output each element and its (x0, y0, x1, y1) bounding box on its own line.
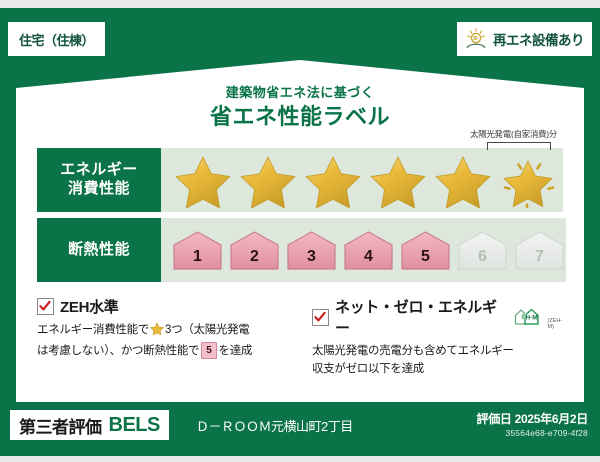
bels-en-label: BELS (109, 414, 160, 437)
rating-row-energy-consumption: エネルギー 消費性能 太陽光発電(自家消費)分 (37, 148, 563, 212)
achievement-zeh-title: ZEH水準 (60, 296, 119, 317)
energy-performance-label-card: 住宅（住棟） 再エネ設備あり 建築物省エネ法に基づく 省エネ性能ラベル (0, 8, 600, 456)
star-filled-4 (366, 152, 430, 208)
rating-body-energy-consumption: 太陽光発電(自家消費)分 (161, 148, 563, 212)
zeh-m-logo: H·M (ZEH-M) (512, 303, 567, 332)
star-filled-3 (301, 152, 365, 208)
achievement-nze-title: ネット・ゼロ・エネルギー (335, 296, 506, 338)
rating-row-insulation: 断熱性能 1 2 3 (37, 218, 563, 282)
insulation-grade-1: 1 (171, 228, 224, 272)
achievement-nze-description: 太陽光発電の売電分も含めてエネルギー 収支がゼロ以下を達成 (312, 343, 567, 379)
inline-grade-badge: 5 (201, 342, 216, 360)
achievement-zeh-description: エネルギー消費性能で3つ（太陽光発電 は考慮しない）、かつ断熱性能で5を達成 (37, 322, 292, 361)
rating-label-energy-consumption: エネルギー 消費性能 (37, 148, 161, 212)
label-footer: 第三者評価 BELS Ｄ－ＲＯＯＭ元横山町2丁目 評価日 2025年6月2日 3… (0, 402, 600, 456)
star-solar-6 (496, 152, 560, 208)
solar-note-label: 太陽光発電(自家消費)分 (470, 128, 557, 140)
star-filled-1 (171, 152, 235, 208)
star-filled-2 (236, 152, 300, 208)
inline-star-icon (150, 326, 164, 338)
zeh-m-caption: (ZEH-M) (547, 318, 567, 332)
bels-jp-label: 第三者評価 (19, 413, 102, 438)
checkbox-net-zero-energy[interactable] (312, 309, 329, 326)
panel-title: 省エネ性能ラベル (16, 99, 584, 131)
star-filled-5 (431, 152, 495, 208)
property-name: Ｄ－ＲＯＯＭ元横山町2丁目 (196, 416, 353, 435)
rating-label-insulation: 断熱性能 (37, 218, 161, 282)
housing-type-label: 住宅（住棟） (19, 30, 94, 49)
insulation-grade-7: 7 (513, 228, 566, 272)
checkbox-zeh-suijun[interactable] (37, 298, 54, 315)
insulation-grade-5: 5 (399, 228, 452, 272)
sun-solar-icon (463, 27, 489, 51)
evaluation-date: 評価日 2025年6月2日 (477, 410, 588, 427)
housing-type-tag: 住宅（住棟） (8, 22, 105, 56)
solar-note-bracket (487, 142, 551, 150)
achievements-section: ZEH水準 エネルギー消費性能で3つ（太陽光発電 は考慮しない）、かつ断熱性能で… (37, 296, 567, 379)
svg-text:H·M: H·M (526, 314, 538, 321)
achievement-zeh-header: ZEH水準 (37, 296, 292, 317)
rating-rows: エネルギー 消費性能 太陽光発電(自家消費)分 (37, 148, 563, 288)
achievement-nze-header: ネット・ゼロ・エネルギー H·M (ZEH-M) (312, 296, 567, 338)
bels-evaluation-tag: 第三者評価 BELS (10, 410, 169, 440)
insulation-grade-6: 6 (456, 228, 509, 272)
renewable-equipment-badge: 再エネ設備あり (457, 22, 592, 56)
achievement-zeh-suijun: ZEH水準 エネルギー消費性能で3つ（太陽光発電 は考慮しない）、かつ断熱性能で… (37, 296, 292, 379)
insulation-grade-2: 2 (228, 228, 281, 272)
label-main-panel: 建築物省エネ法に基づく 省エネ性能ラベル エネルギー 消費性能 太陽光発電(自家… (16, 60, 584, 402)
rating-body-insulation: 1 2 3 4 (161, 218, 566, 282)
achievement-net-zero-energy: ネット・ゼロ・エネルギー H·M (ZEH-M) (292, 296, 567, 379)
star-rating-group (171, 152, 560, 208)
zeh-m-house-icon: H·M (512, 303, 546, 332)
insulation-grade-4: 4 (342, 228, 395, 272)
insulation-grade-group: 1 2 3 4 (171, 228, 566, 272)
renewable-badge-label: 再エネ設備あり (493, 29, 584, 49)
insulation-grade-3: 3 (285, 228, 338, 272)
evaluation-id: 35564e68-e709-4f28 (505, 428, 588, 438)
